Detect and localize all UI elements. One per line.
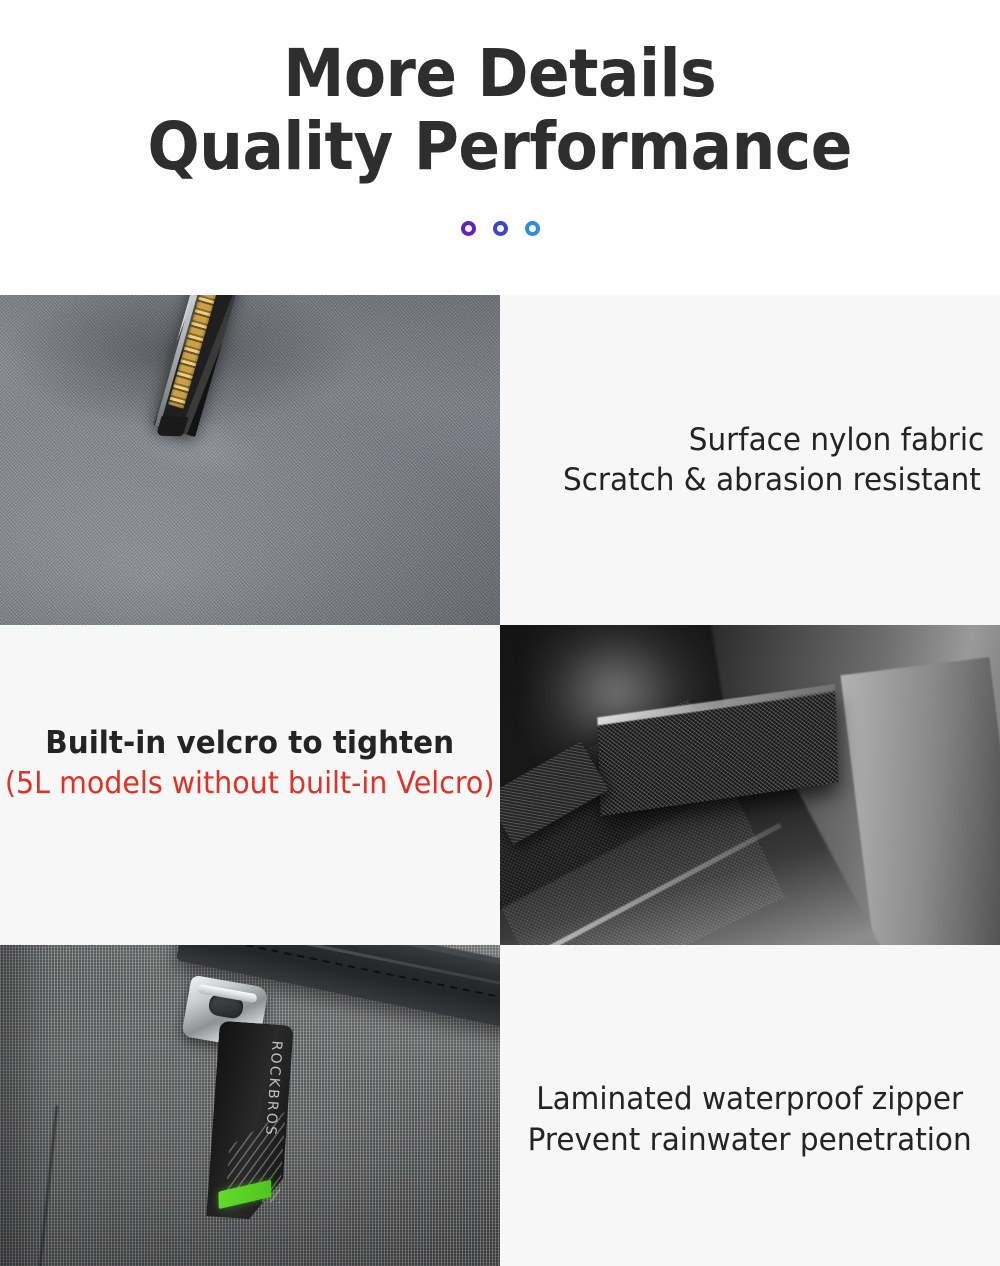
zipper-pull-tab: ROCKBROS — [206, 1021, 293, 1222]
photo-built-in-velcro — [500, 625, 1000, 945]
nylon-fabric-photo — [0, 295, 500, 625]
caption-line-1: Built-in velcro to tighten — [5, 723, 495, 763]
caption-surface-nylon: Surface nylon fabric Scratch & abrasion … — [500, 295, 1000, 625]
velcro-photo — [500, 625, 1000, 945]
page-title-line-1: More Details — [284, 40, 717, 107]
page-header: More Details Quality Performance — [0, 0, 1000, 295]
caption-stack: Laminated waterproof zipper Prevent rain… — [516, 1079, 983, 1160]
dot-blue-icon — [525, 221, 540, 236]
photo-surface-nylon — [0, 295, 500, 625]
page-title-line-2: Quality Performance — [148, 113, 852, 180]
dot-indigo-icon — [493, 221, 508, 236]
caption-warning-line: (5L models without built-in Velcro) — [5, 764, 495, 803]
caption-built-in-velcro: Built-in velcro to tighten (5L models wi… — [0, 625, 500, 945]
caption-line-2: Prevent rainwater penetration — [528, 1120, 972, 1160]
product-detail-page: More Details Quality Performance — [0, 0, 1000, 1266]
zipper-photo: ROCKBROS — [0, 945, 500, 1266]
zipper-tip — [156, 416, 188, 436]
caption-stack: Built-in velcro to tighten (5L models wi… — [0, 723, 500, 802]
caption-line-2: Scratch & abrasion resistant — [563, 460, 981, 500]
dot-purple-icon — [461, 221, 476, 236]
decorative-dots — [461, 221, 540, 236]
caption-line-1: Laminated waterproof zipper — [528, 1079, 972, 1119]
caption-line-1: Surface nylon fabric — [689, 420, 984, 460]
feature-grid: Surface nylon fabric Scratch & abrasion … — [0, 295, 1000, 1266]
photo-laminated-zipper: ROCKBROS — [0, 945, 500, 1266]
caption-laminated-zipper: Laminated waterproof zipper Prevent rain… — [500, 945, 1000, 1266]
